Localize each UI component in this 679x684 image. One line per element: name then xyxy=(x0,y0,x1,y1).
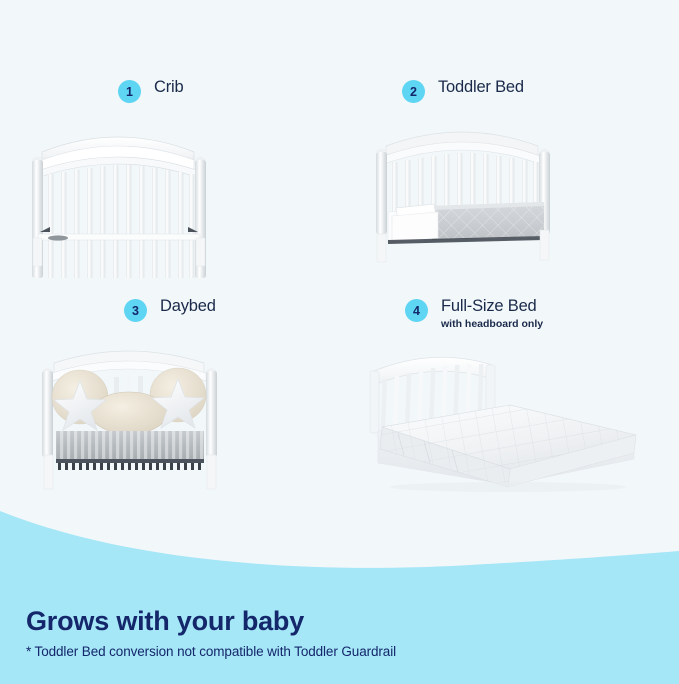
conversion-stages-grid: 1 Crib xyxy=(0,0,679,500)
product-feature-graphic: 1 Crib xyxy=(0,0,679,684)
stage-label-crib: Crib xyxy=(154,78,183,98)
stage-sublabel-full-size-bed: with headboard only xyxy=(441,318,543,331)
stage-label-full-size-bed: Full-Size Bed xyxy=(441,297,543,317)
stage-badge-3: 3 xyxy=(124,299,147,322)
stage-badge-2: 2 xyxy=(402,80,425,103)
stage-header-daybed: 3 Daybed xyxy=(18,297,318,335)
crib-illustration xyxy=(18,116,318,281)
banner-footnote: * Toddler Bed conversion not compatible … xyxy=(26,644,646,659)
stage-card-toddler-bed: 2 Toddler Bed xyxy=(358,78,658,278)
stage-label-wrap-crib: Crib xyxy=(154,78,183,98)
stage-card-full-size-bed: 4 Full-Size Bed with headboard only xyxy=(358,297,658,497)
stage-header-crib: 1 Crib xyxy=(18,78,318,116)
full-size-bed-illustration xyxy=(358,335,658,500)
stage-label-toddler-bed: Toddler Bed xyxy=(438,78,524,98)
banner-title: Grows with your baby xyxy=(26,607,646,635)
stage-badge-4: 4 xyxy=(405,299,428,322)
stage-card-crib: 1 Crib xyxy=(18,78,318,278)
banner-text-block: Grows with your baby * Toddler Bed conve… xyxy=(26,607,646,659)
stage-badge-1: 1 xyxy=(118,80,141,103)
bottom-banner: Grows with your baby * Toddler Bed conve… xyxy=(0,495,679,684)
stage-label-daybed: Daybed xyxy=(160,297,216,317)
stage-label-wrap-full-size-bed: Full-Size Bed with headboard only xyxy=(441,297,543,330)
stage-header-toddler-bed: 2 Toddler Bed xyxy=(358,78,658,116)
stage-header-full-size-bed: 4 Full-Size Bed with headboard only xyxy=(358,297,658,335)
stage-card-daybed: 3 Daybed xyxy=(18,297,318,497)
stage-label-wrap-toddler-bed: Toddler Bed xyxy=(438,78,524,98)
daybed-illustration xyxy=(18,335,318,500)
toddler-bed-illustration xyxy=(358,116,658,281)
stage-label-wrap-daybed: Daybed xyxy=(160,297,216,317)
